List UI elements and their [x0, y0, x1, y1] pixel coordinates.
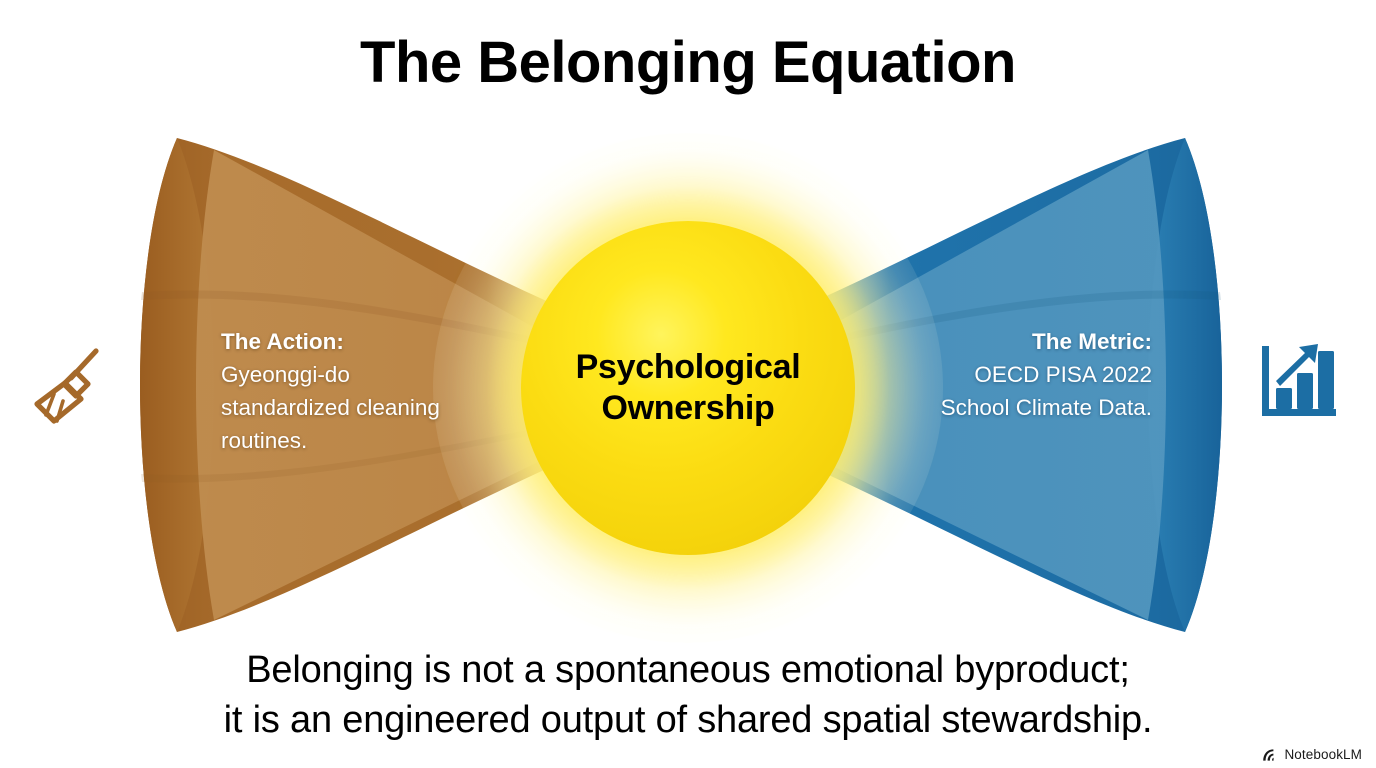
bar-chart-growth-icon [1252, 338, 1344, 430]
right-panel-body: OECD PISA 2022 School Climate Data. [941, 362, 1152, 420]
notebooklm-logo-icon [1262, 748, 1279, 762]
left-panel-text: The Action: Gyeonggi-do standardized cle… [221, 325, 471, 457]
left-panel-heading: The Action: [221, 325, 471, 358]
watermark: NotebookLM [1262, 747, 1362, 762]
center-sphere-label: Psychological Ownership [521, 221, 855, 555]
caption-line-1: Belonging is not a spontaneous emotional… [0, 645, 1376, 695]
broom-icon [24, 342, 108, 426]
right-panel-text: The Metric: OECD PISA 2022 School Climat… [920, 325, 1152, 424]
center-label-line-2: Ownership [602, 388, 775, 429]
caption: Belonging is not a spontaneous emotional… [0, 645, 1376, 745]
caption-line-2: it is an engineered output of shared spa… [0, 695, 1376, 745]
infographic-canvas: The Belonging Equation [0, 0, 1376, 768]
right-panel-heading: The Metric: [920, 325, 1152, 358]
center-label-line-1: Psychological [576, 347, 801, 388]
watermark-label: NotebookLM [1284, 747, 1362, 762]
left-panel-body: Gyeonggi-do standardized cleaning routin… [221, 362, 440, 453]
